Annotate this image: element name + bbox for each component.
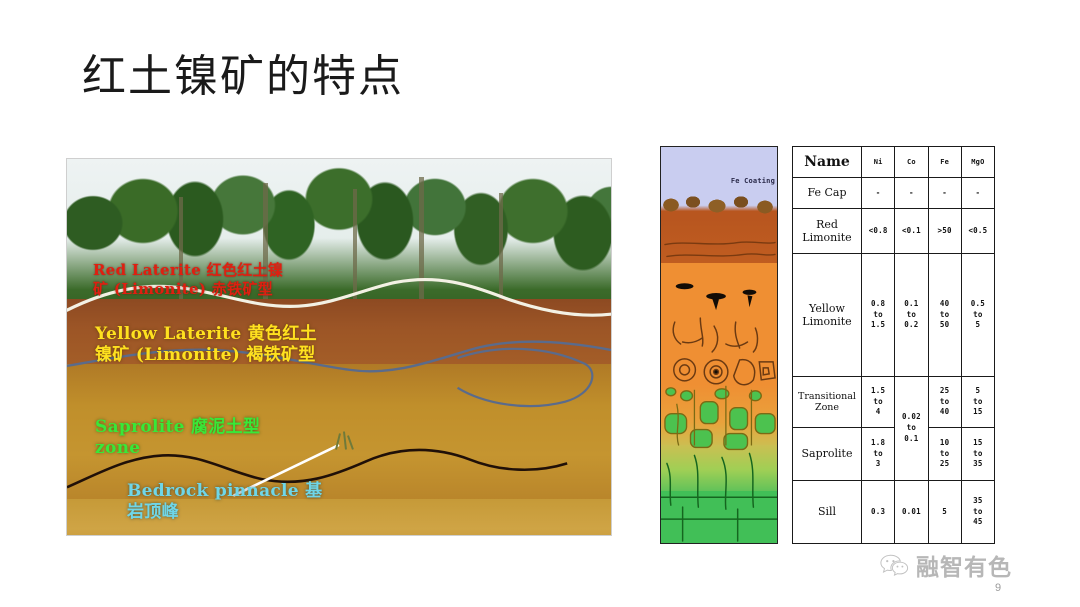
photo-label-yellow-laterite: Yellow Laterite 黄色红土 镍矿 (Limonite) 褐铁矿型 <box>95 324 317 367</box>
laterite-composition-table: Name Ni Co Fe MgO Fe Cap - - - - Red Lim… <box>792 146 995 544</box>
fe-coating-label: Fe Coating <box>731 177 775 185</box>
cell-yellow-limonite-mgo: 0.5 to 5 <box>961 254 994 377</box>
header-name: Name <box>793 147 862 178</box>
yellow-limonite-nodules <box>676 283 757 310</box>
table-row: Red Limonite <0.8 <0.1 >50 <0.5 <box>793 209 995 254</box>
table-row: Transitional Zone 1.5 to 4 0.02 to 0.1 2… <box>793 377 995 428</box>
photo-label-saprolite: Saprolite 腐泥土型 zone <box>95 417 260 460</box>
wechat-icon <box>880 553 910 577</box>
cell-sill-ni: 0.3 <box>862 481 895 544</box>
row-name-red-limonite: Red Limonite <box>793 209 862 254</box>
header-mgo: MgO <box>961 147 994 178</box>
saprolite-boulder-clasts <box>665 388 775 450</box>
header-fe: Fe <box>928 147 961 178</box>
watermark-text: 融智有色 <box>916 548 1012 582</box>
cell-yellow-limonite-co: 0.1 to 0.2 <box>895 254 928 377</box>
profile-texture-overlay <box>661 147 777 543</box>
cell-fe-cap-mgo: - <box>961 178 994 209</box>
row-name-fe-cap: Fe Cap <box>793 178 862 209</box>
cell-yellow-limonite-ni: 0.8 to 1.5 <box>862 254 895 377</box>
header-ni: Ni <box>862 147 895 178</box>
sill-bedrock-fractures <box>661 453 777 541</box>
row-name-sill: Sill <box>793 481 862 544</box>
photo-label-bedrock-pinnacle: Bedrock pinnacle 基 岩顶峰 <box>127 481 322 524</box>
cell-sill-co: 0.01 <box>895 481 928 544</box>
cell-sill-fe: 5 <box>928 481 961 544</box>
grass-tuft <box>336 432 353 450</box>
cell-red-limonite-fe: >50 <box>928 209 961 254</box>
cell-saprolite-ni: 1.8 to 3 <box>862 428 895 481</box>
cell-fe-cap-fe: - <box>928 178 961 209</box>
transitional-zone-boulders <box>674 359 775 385</box>
row-name-yellow-limonite: Yellow Limonite <box>793 254 862 377</box>
row-name-saprolite: Saprolite <box>793 428 862 481</box>
page-number: 9 <box>995 582 1001 594</box>
cell-transitional-zone-fe: 25 to 40 <box>928 377 961 428</box>
cell-saprolite-mgo: 15 to 35 <box>961 428 994 481</box>
page-title: 红土镍矿的特点 <box>82 52 404 103</box>
header-co: Co <box>895 147 928 178</box>
cell-red-limonite-mgo: <0.5 <box>961 209 994 254</box>
table-row: Sill 0.3 0.01 5 35 to 45 <box>793 481 995 544</box>
cell-sill-mgo: 35 to 45 <box>961 481 994 544</box>
cell-yellow-limonite-fe: 40 to 50 <box>928 254 961 377</box>
laterite-profile-figure: Fe Coating Name Ni Co Fe MgO Fe Cap - - … <box>660 146 995 544</box>
yellow-limonite-cracks <box>673 318 757 352</box>
cell-red-limonite-ni: <0.8 <box>862 209 895 254</box>
cell-red-limonite-co: <0.1 <box>895 209 928 254</box>
cell-transitional-zone-mgo: 5 to 15 <box>961 377 994 428</box>
table-row: Fe Cap - - - - <box>793 178 995 209</box>
row-name-transitional-zone: Transitional Zone <box>793 377 862 428</box>
cell-transitional-zone-ni: 1.5 to 4 <box>862 377 895 428</box>
red-limonite-fissures <box>665 242 775 257</box>
cell-saprolite-fe: 10 to 25 <box>928 428 961 481</box>
laterite-outcrop-photo: Red Laterite 红色红土镍 矿 (Limonite) 赤铁矿型 Yel… <box>66 158 612 536</box>
table-header-row: Name Ni Co Fe MgO <box>793 147 995 178</box>
cell-fe-cap-co: - <box>895 178 928 209</box>
cell-merged-co: 0.02 to 0.1 <box>895 377 928 481</box>
photo-label-red-laterite: Red Laterite 红色红土镍 矿 (Limonite) 赤铁矿型 <box>93 261 283 299</box>
table-row: Yellow Limonite 0.8 to 1.5 0.1 to 0.2 40… <box>793 254 995 377</box>
blue-contact-line-secondary <box>458 349 593 406</box>
table-row: Saprolite 1.8 to 3 10 to 25 15 to 35 <box>793 428 995 481</box>
soil-profile-column: Fe Coating <box>660 146 778 544</box>
cell-fe-cap-ni: - <box>862 178 895 209</box>
watermark: 融智有色 <box>880 548 1012 582</box>
